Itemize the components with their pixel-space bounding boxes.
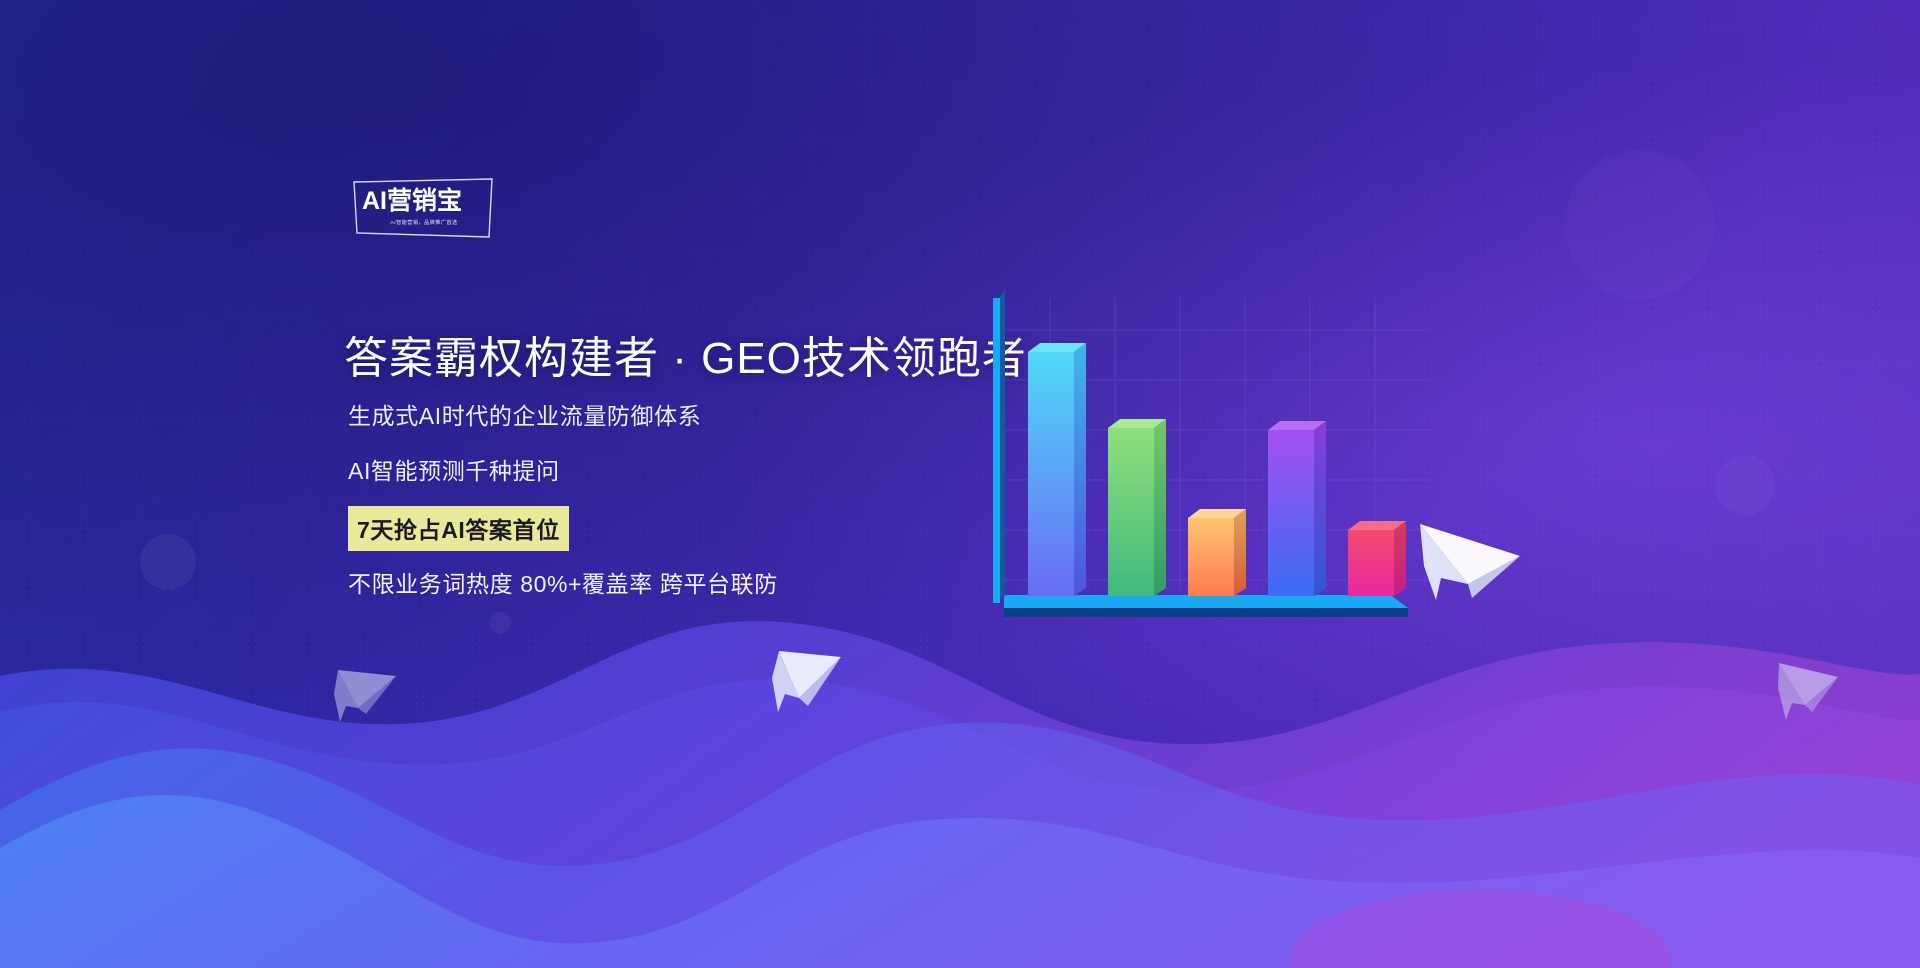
subtitle-line-2: AI智能预测千种提问 [348,452,560,486]
decorative-circle [1715,455,1775,515]
chart-bars [1028,343,1406,596]
brand-logo[interactable]: AI营销宝 AI智能营销，品牌推广首选 [352,178,494,238]
chart-bar [1028,343,1086,596]
bar-chart [960,290,1440,680]
highlight-badge: 7天抢占AI答案首位 [348,506,569,551]
hero-banner: AI营销宝 AI智能营销，品牌推广首选 答案霸权构建者 · GEO技术领跑者 生… [0,0,1920,968]
chart-bar [1268,421,1326,596]
chart-bar [1348,521,1406,596]
decorative-circle [1565,150,1715,300]
feature-list: 不限业务词热度 80%+覆盖率 跨平台联防 [348,565,778,599]
page-title: 答案霸权构建者 · GEO技术领跑者 [344,322,1027,386]
logo-tagline: AI智能营销，品牌推广首选 [363,219,485,226]
logo-text: AI营销宝 [362,187,486,215]
chart-axis [993,290,1005,603]
subtitle-line-1: 生成式AI时代的企业流量防御体系 [348,397,701,431]
chart-bar [1108,419,1166,596]
chart-bar [1188,509,1246,596]
chart-base [1004,595,1408,617]
